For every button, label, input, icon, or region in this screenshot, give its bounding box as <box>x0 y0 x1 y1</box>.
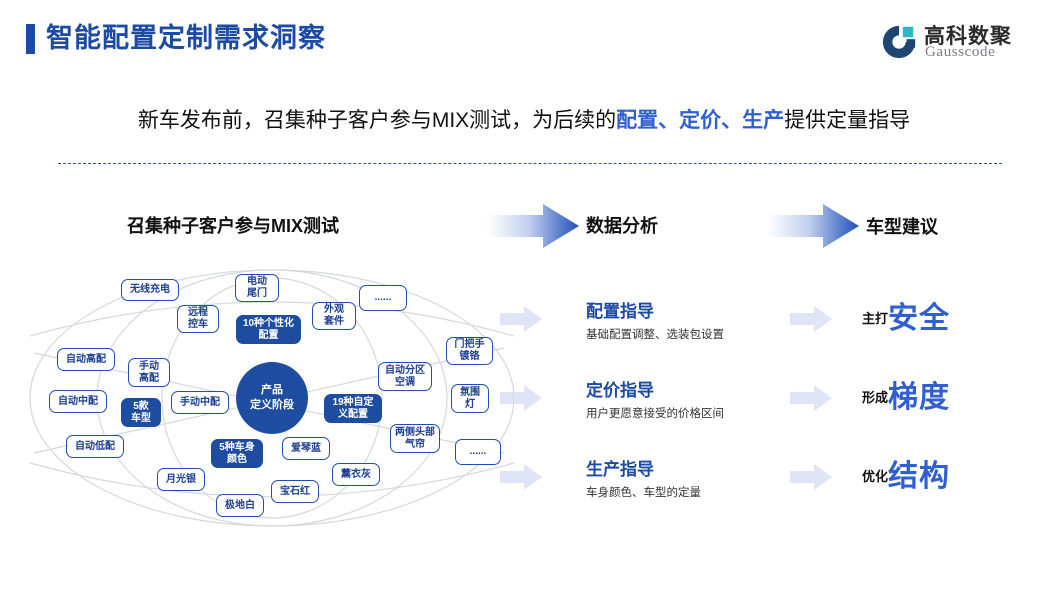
mindmap-node: 外观 套件 <box>312 302 356 330</box>
mindmap-node: 自动低配 <box>66 435 124 458</box>
gausscode-logo-icon <box>880 23 918 61</box>
advice-prefix: 形成 <box>862 390 888 405</box>
subtitle-part2: 提供定量指导 <box>784 109 910 132</box>
advice-word: 梯度 <box>888 381 950 414</box>
mindmap-center-node: 产品 定义阶段 <box>236 362 308 434</box>
logo-name-en: Gausscode <box>925 44 995 61</box>
column-heading-advice: 车型建议 <box>866 215 938 239</box>
analysis-item-title: 配置指导 <box>586 300 796 324</box>
mindmap-node: 月光银 <box>157 468 205 491</box>
right-arrow-pale-icon <box>790 305 832 333</box>
mindmap-node: 无线充电 <box>121 279 179 301</box>
mindmap-node: ...... <box>455 439 501 465</box>
center-node-line1: 产品 <box>261 383 283 398</box>
mindmap-node: 5款 车型 <box>121 398 161 427</box>
column-heading-analysis: 数据分析 <box>586 214 658 238</box>
subtitle: 新车发布前，召集种子客户参与MIX测试，为后续的配置、定价、生产提供定量指导 <box>0 104 1048 138</box>
mindmap-node: 5种车身 颜色 <box>211 439 263 468</box>
analysis-item-desc: 基础配置调整、选装包设置 <box>586 326 796 344</box>
analysis-item-title: 定价指导 <box>586 379 796 403</box>
mindmap-node: 极地白 <box>216 494 264 517</box>
right-arrow-pale-icon <box>790 463 832 491</box>
mindmap-node: 19种自定 义配置 <box>324 394 382 423</box>
analysis-item: 生产指导 车身颜色、车型的定量 <box>586 458 796 502</box>
advice-item: 优化结构 <box>862 460 950 494</box>
mindmap-node: 薰衣灰 <box>332 463 380 486</box>
mindmap-node: 手动中配 <box>171 391 229 414</box>
right-arrow-pale-icon <box>790 384 832 412</box>
page-title: 智能配置定制需求洞察 <box>46 20 326 56</box>
mindmap-node: 手动 高配 <box>128 358 170 387</box>
analysis-item-title: 生产指导 <box>586 458 796 482</box>
advice-word: 安全 <box>888 302 950 335</box>
mindmap-node: 自动高配 <box>57 348 115 371</box>
mindmap-node: ...... <box>359 285 407 311</box>
subtitle-highlight: 配置、定价、生产 <box>616 109 784 132</box>
mindmap-node: 电动 尾门 <box>235 274 279 302</box>
advice-prefix: 优化 <box>862 469 888 484</box>
analysis-item: 定价指导 用户更愿意接受的价格区间 <box>586 379 796 423</box>
subtitle-part1: 新车发布前，召集种子客户参与MIX测试，为后续的 <box>138 109 616 132</box>
advice-prefix: 主打 <box>862 311 888 326</box>
title-bar-mark-icon <box>26 24 35 54</box>
center-node-line2: 定义阶段 <box>250 398 294 413</box>
analysis-item: 配置指导 基础配置调整、选装包设置 <box>586 300 796 344</box>
mindmap-node: 自动中配 <box>49 390 107 413</box>
mindmap-node: 自动分区 空调 <box>378 362 432 391</box>
advice-word: 结构 <box>888 460 950 493</box>
mindmap-node: 10种个性化 配置 <box>236 315 301 344</box>
analysis-item-desc: 车身颜色、车型的定量 <box>586 484 796 502</box>
right-arrow-gradient-icon <box>487 203 579 249</box>
mindmap-diagram: 产品 定义阶段 无线充电电动 尾门......远程 控车10种个性化 配置外观 … <box>14 258 514 538</box>
advice-item: 形成梯度 <box>862 381 950 415</box>
mindmap-node: 两侧头部 气帘 <box>390 424 440 453</box>
brand-logo: 高科数聚 Gausscode <box>880 18 1030 66</box>
section-divider <box>58 163 1002 164</box>
mindmap-node: 远程 控车 <box>177 305 219 333</box>
mindmap-node: 氛围 灯 <box>451 384 489 413</box>
mindmap-node: 宝石红 <box>271 480 319 503</box>
advice-item: 主打安全 <box>862 302 950 336</box>
page-header: 智能配置定制需求洞察 高科数聚 Gausscode <box>0 0 1048 78</box>
right-arrow-gradient-icon <box>767 203 859 249</box>
mindmap-node: 门把手 镀铬 <box>446 337 493 365</box>
column-heading-collect: 召集种子客户参与MIX测试 <box>127 214 339 238</box>
mindmap-node: 爱琴蓝 <box>282 437 330 460</box>
analysis-item-desc: 用户更愿意接受的价格区间 <box>586 405 796 423</box>
